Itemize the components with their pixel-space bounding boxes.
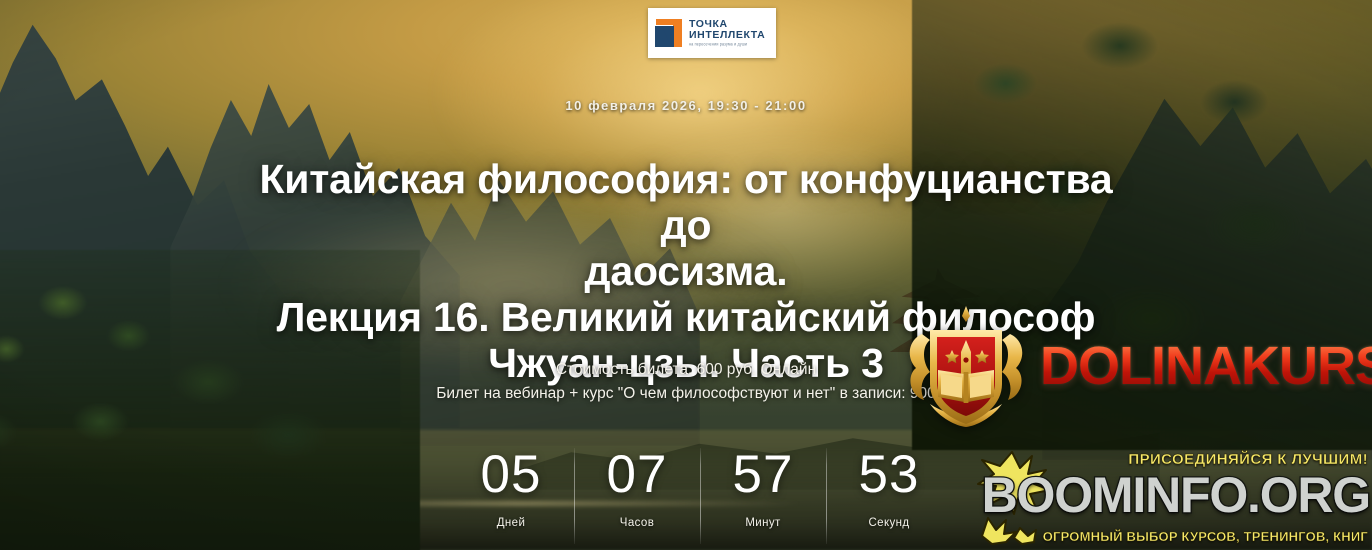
event-date: 10 февраля 2026, 19:30 - 21:00 (0, 98, 1372, 113)
brand-line-1: ТОЧКА (689, 19, 765, 30)
countdown-minutes-value: 57 (733, 448, 794, 501)
star-burst-icon (966, 446, 1096, 550)
it-monogram-icon (654, 17, 684, 49)
price-line-1: Стоимость билета: 600 руб. Онлайн (186, 358, 1186, 382)
brand-text-block: ТОЧКА ИНТЕЛЛЕКТА на пересечении разума и… (689, 19, 765, 47)
countdown-unit-days: 05 Дней (448, 448, 574, 546)
brand-line-2: ИНТЕЛЛЕКТА (689, 30, 765, 41)
page-title: Китайская философия: от конфуцианства до… (236, 157, 1136, 387)
countdown-timer: 05 Дней 07 Часов 57 Минут 53 Секунд (448, 448, 952, 546)
countdown-unit-minutes: 57 Минут (700, 448, 826, 546)
countdown-seconds-value: 53 (859, 448, 920, 501)
title-line-2: даосизма. (236, 249, 1136, 295)
countdown-minutes-label: Минут (745, 517, 780, 529)
banner-stage: ТОЧКА ИНТЕЛЛЕКТА на пересечении разума и… (0, 0, 1372, 550)
countdown-seconds-label: Секунд (868, 517, 909, 529)
countdown-hours-value: 07 (607, 448, 668, 501)
countdown-hours-label: Часов (620, 517, 654, 529)
countdown-unit-hours: 07 Часов (574, 448, 700, 546)
title-line-1: Китайская философия: от конфуцианства до (236, 157, 1136, 249)
watermark-boominfo-text: BOOMINFO.ORG (972, 470, 1370, 520)
pricing-block: Стоимость билета: 600 руб. Онлайн Билет … (186, 358, 1186, 406)
countdown-days-value: 05 (481, 448, 542, 501)
title-line-3: Лекция 16. Великий китайский философ (236, 295, 1136, 341)
banner-content: ТОЧКА ИНТЕЛЛЕКТА на пересечении разума и… (0, 0, 1372, 550)
watermark-boominfo-tagline-top: ПРИСОЕДИНЯЙСЯ К ЛУЧШИМ! (1078, 451, 1368, 468)
watermark-boominfo: ПРИСОЕДИНЯЙСЯ К ЛУЧШИМ! BOOMINFO.ORG ОГР… (966, 446, 1372, 550)
watermark-boominfo-tagline-bottom: ОГРОМНЫЙ ВЫБОР КУРСОВ, ТРЕНИНГОВ, КНИГ (1026, 529, 1368, 544)
brand-logo[interactable]: ТОЧКА ИНТЕЛЛЕКТА на пересечении разума и… (648, 8, 776, 58)
brand-subtitle: на пересечении разума и души (689, 43, 765, 47)
countdown-unit-seconds: 53 Секунд (826, 448, 952, 546)
price-line-2: Билет на вебинар + курс "О чем философст… (186, 382, 1186, 406)
countdown-days-label: Дней (497, 517, 526, 529)
